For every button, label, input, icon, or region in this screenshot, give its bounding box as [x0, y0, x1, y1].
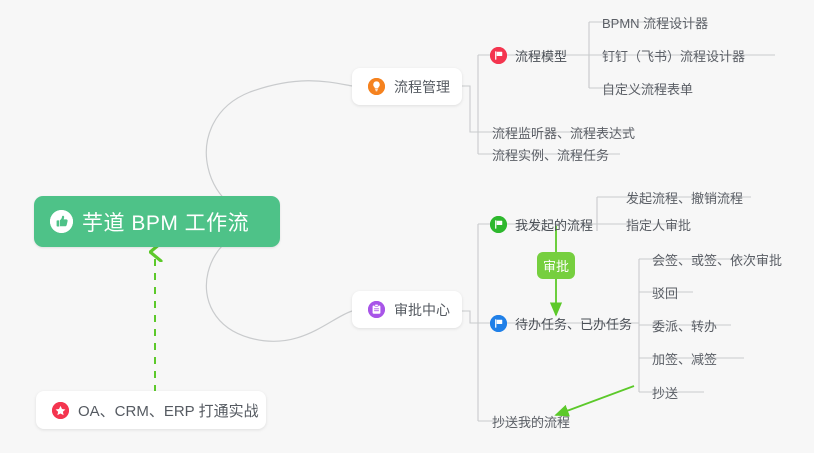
- footnote-node-integration[interactable]: OA、CRM、ERP 打通实战: [36, 391, 266, 429]
- leaf-add-remove-sign[interactable]: 加签、减签: [652, 345, 717, 371]
- leaf-label-process-model: 流程模型: [515, 46, 567, 65]
- leaf-todo-done[interactable]: 待办任务、已办任务: [490, 310, 632, 336]
- lightbulb-icon: [368, 78, 385, 95]
- leaf-label-start-cancel-process: 发起流程、撤销流程: [626, 188, 743, 207]
- leaf-instance-task[interactable]: 流程实例、流程任务: [492, 141, 609, 167]
- root-node[interactable]: 芋道 BPM 工作流: [34, 196, 280, 247]
- footnote-label: OA、CRM、ERP 打通实战: [78, 400, 259, 421]
- leaf-cc[interactable]: 抄送: [652, 379, 678, 405]
- leaf-label-add-remove-sign: 加签、减签: [652, 349, 717, 368]
- leaf-cc-to-me[interactable]: 抄送我的流程: [492, 408, 570, 434]
- leaf-start-cancel-process[interactable]: 发起流程、撤销流程: [626, 184, 743, 210]
- leaf-label-delegate-transfer: 委派、转办: [652, 316, 717, 335]
- flag-icon: [490, 315, 507, 332]
- branch-label-approval-center: 审批中心: [394, 300, 450, 320]
- leaf-countersign-modes[interactable]: 会签、或签、依次审批: [652, 246, 782, 272]
- flag-icon: [490, 47, 507, 64]
- leaf-label-todo-done: 待办任务、已办任务: [515, 314, 632, 333]
- branch-node-approval-center[interactable]: 审批中心: [352, 291, 462, 328]
- leaf-label-bpmn-designer: BPMN 流程设计器: [602, 13, 708, 32]
- leaf-label-dingtalk-feishu-designer: 钉钉（飞书）流程设计器: [602, 46, 745, 65]
- mindmap-canvas: 芋道 BPM 工作流 流程管理 审批中心: [0, 0, 814, 453]
- leaf-my-started[interactable]: 我发起的流程: [490, 211, 593, 237]
- leaf-assignee-approval[interactable]: 指定人审批: [626, 211, 691, 237]
- root-label: 芋道 BPM 工作流: [82, 207, 249, 237]
- branch-node-flow-management[interactable]: 流程管理: [352, 68, 462, 105]
- leaf-label-reject: 驳回: [652, 283, 678, 302]
- leaf-custom-form[interactable]: 自定义流程表单: [602, 75, 693, 101]
- flag-icon: [490, 216, 507, 233]
- approval-annotation-tag: 审批: [537, 252, 575, 279]
- leaf-label-my-started: 我发起的流程: [515, 215, 593, 234]
- leaf-label-cc: 抄送: [652, 383, 678, 402]
- leaf-process-model[interactable]: 流程模型: [490, 42, 567, 68]
- approval-annotation-label: 审批: [543, 256, 569, 275]
- leaf-bpmn-designer[interactable]: BPMN 流程设计器: [602, 9, 708, 35]
- leaf-label-listener-expression: 流程监听器、流程表达式: [492, 123, 635, 142]
- star-icon: [52, 402, 69, 419]
- clipboard-icon: [368, 301, 385, 318]
- leaf-label-cc-to-me: 抄送我的流程: [492, 412, 570, 431]
- leaf-reject[interactable]: 驳回: [652, 279, 678, 305]
- branch-label-flow-management: 流程管理: [394, 77, 450, 97]
- thumbs-up-icon: [50, 210, 73, 233]
- leaf-label-countersign-modes: 会签、或签、依次审批: [652, 250, 782, 269]
- leaf-delegate-transfer[interactable]: 委派、转办: [652, 312, 717, 338]
- leaf-dingtalk-feishu-designer[interactable]: 钉钉（飞书）流程设计器: [602, 42, 745, 68]
- leaf-label-instance-task: 流程实例、流程任务: [492, 145, 609, 164]
- leaf-label-assignee-approval: 指定人审批: [626, 215, 691, 234]
- leaf-label-custom-form: 自定义流程表单: [602, 79, 693, 98]
